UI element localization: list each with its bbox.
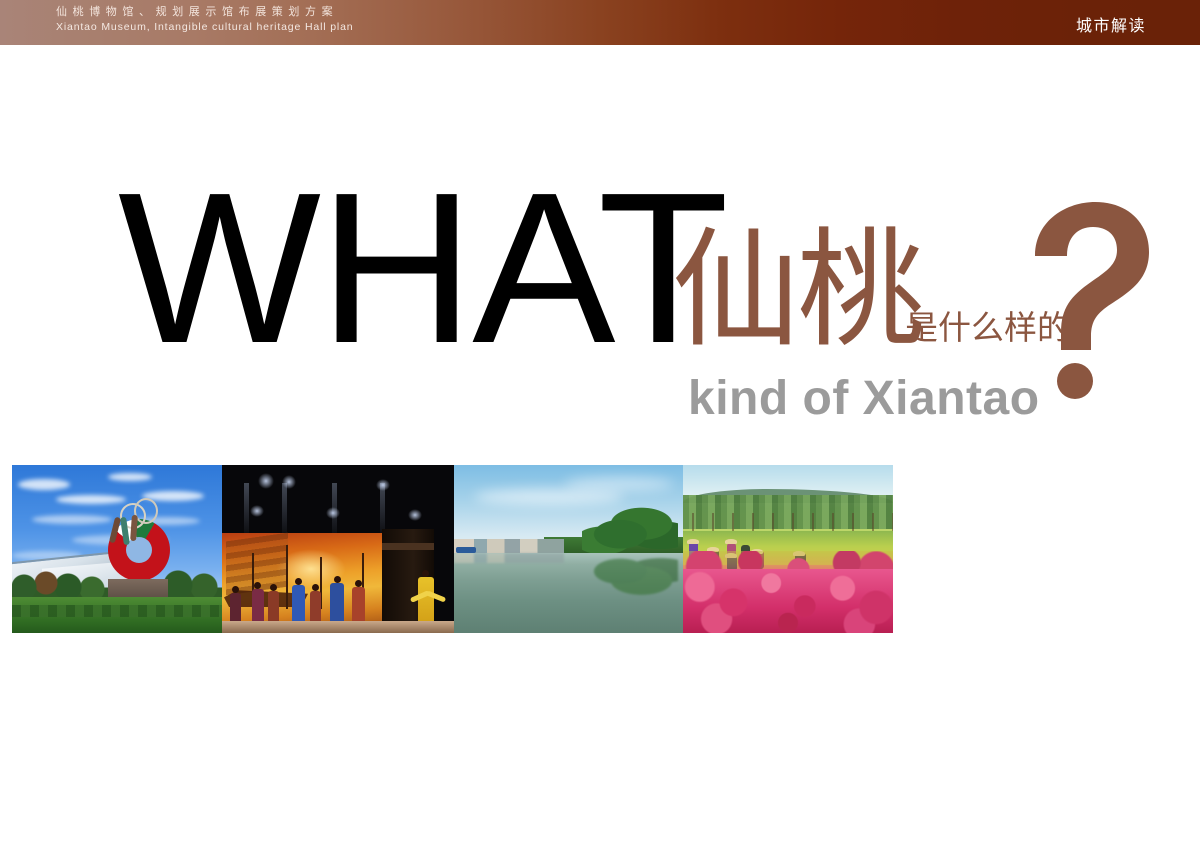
- gallery-image-3[interactable]: [454, 465, 683, 633]
- header-title-chinese: 仙桃博物馆、规划展示馆布展策划方案: [56, 7, 353, 19]
- hero-what-word: WHAT: [118, 160, 727, 375]
- lake-landscape-photo: [454, 465, 683, 633]
- hero-title-block: WHAT 仙桃 是什么样的 kind of Xiantao: [0, 160, 1200, 460]
- page-header: 仙桃博物馆、规划展示馆布展策划方案 Xiantao Museum, Intang…: [0, 0, 1200, 45]
- hero-english-sub: kind of Xiantao: [688, 375, 1040, 423]
- gallery-image-2[interactable]: [222, 465, 454, 633]
- photo-gallery-strip: [12, 465, 893, 633]
- header-title-block: 仙桃博物馆、规划展示馆布展策划方案 Xiantao Museum, Intang…: [56, 7, 353, 33]
- header-title-english: Xiantao Museum, Intangible cultural heri…: [56, 22, 353, 33]
- hero-chinese-main: 仙桃: [672, 227, 922, 355]
- gallery-image-1[interactable]: [12, 465, 222, 633]
- header-section-label: 城市解读: [1076, 12, 1146, 36]
- museum-sculpture-photo: [12, 465, 222, 633]
- flower-field-photo: [683, 465, 893, 633]
- question-mark-icon: [1025, 200, 1155, 400]
- gallery-image-4[interactable]: [683, 465, 893, 633]
- theatre-performance-photo: [222, 465, 454, 633]
